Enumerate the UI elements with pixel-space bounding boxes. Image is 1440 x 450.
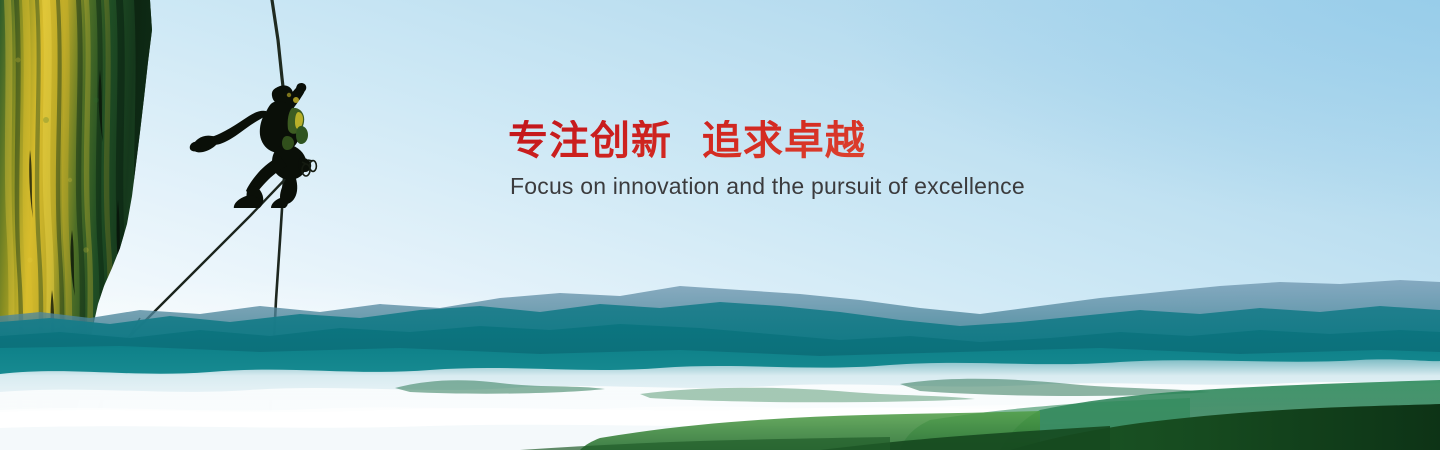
banner-headline-chinese: 专注创新 追求卓越	[508, 120, 1108, 162]
rappelling-climber-silhouette	[188, 78, 328, 208]
hero-banner: 专注创新 追求卓越 Focus on innovation and the pu…	[0, 0, 1440, 450]
banner-subtitle-english: Focus on innovation and the pursuit of e…	[510, 173, 1108, 200]
forested-hill-foreground	[0, 404, 1440, 450]
banner-text-block: 专注创新 追求卓越 Focus on innovation and the pu…	[508, 120, 1108, 200]
